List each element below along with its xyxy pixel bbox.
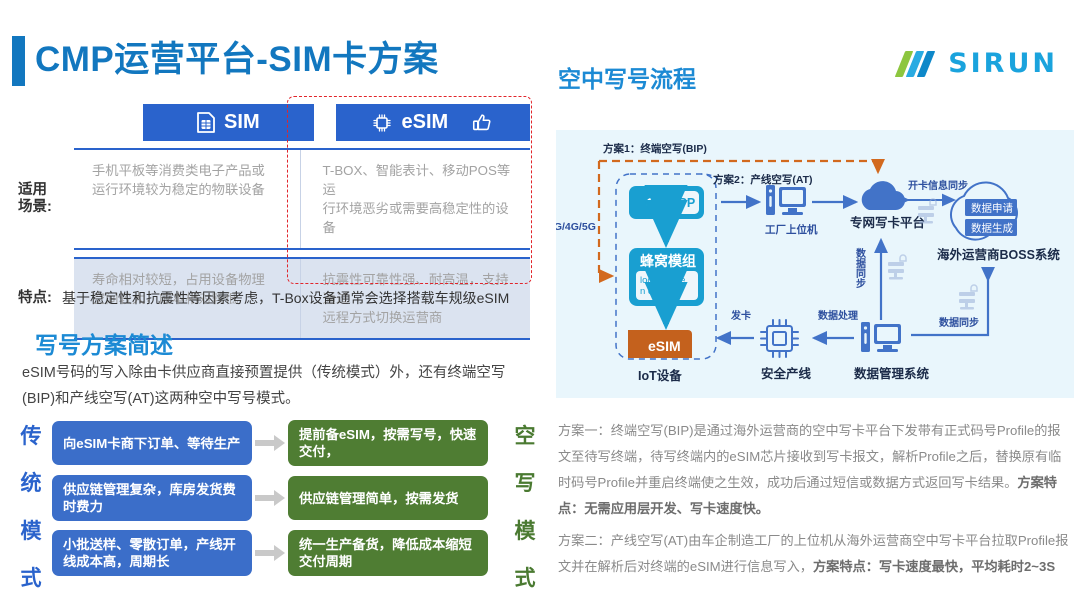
side-char: 写 xyxy=(515,467,536,497)
right-arrow-icon xyxy=(252,490,288,506)
section2-title: 写号方案简述 xyxy=(35,326,173,360)
para2-bold: 方案特点：写卡速度最快，平均耗时2~3S xyxy=(813,559,1055,574)
right-section-title: 空中写号流程 xyxy=(558,60,696,94)
desktop-computer-icon xyxy=(861,322,901,352)
compare-cell-sim-scenario: 手机平板等消费类电子产品或 运行环境较为稳定的物联设备 xyxy=(74,150,300,248)
title-accent-bar xyxy=(12,36,25,86)
side-char: 式 xyxy=(21,562,42,592)
boss-item-1-label: 数据申请 xyxy=(971,202,1013,215)
compare-note: 基于稳定性和抗震性等因素考虑，T-Box设备通常会选择搭载车规级eSIM xyxy=(62,288,509,308)
issue-card-label: 发卡 xyxy=(730,309,751,322)
side-char: 式 xyxy=(515,562,536,592)
data-process-label: 数据处理 xyxy=(818,309,858,322)
open-card-sync-label: 开卡信息同步 xyxy=(908,179,968,192)
flow-side-label-ota: 空 写 模 式 xyxy=(512,420,538,592)
compare-header-row: SIM eSIM xyxy=(143,104,530,141)
paragraph-scheme-two: 方案二：产线空写(AT)由车企制造工厂的上位机从海外运营商空中写卡平台拉取Pro… xyxy=(558,528,1070,580)
compare-header-sim: SIM xyxy=(143,104,314,141)
logo-wordmark: SIRUN xyxy=(948,48,1058,79)
compare-header-sim-label: SIM xyxy=(224,111,260,134)
flow-box-after: 供应链管理简单，按需发货 xyxy=(288,476,488,520)
private-platform-label: 专网写卡平台 xyxy=(850,215,925,230)
compare-header-esim: eSIM xyxy=(336,104,530,141)
cellular-module-label: 蜂窝模组 xyxy=(640,253,696,269)
logical-channel-line2: n channel xyxy=(640,286,681,297)
page-title: CMP运营平台-SIM卡方案 xyxy=(35,35,439,85)
flow-comparison: 传 统 模 式 空 写 模 式 向eSIM卡商下订单、等待生产 提前备eSIM，… xyxy=(18,420,538,585)
scheme2-label: 方案2：产线空写(AT) xyxy=(713,173,813,186)
paragraph-scheme-one: 方案一：终端空写(BIP)是通过海外运营商的空中写卡平台下发带有正式码号Prof… xyxy=(558,418,1070,522)
data-sync-label-1: 数据同步 xyxy=(854,247,866,289)
para1-plain: 方案一：终端空写(BIP)是通过海外运营商的空中写卡平台下发带有正式码号Prof… xyxy=(558,423,1061,490)
flow-box-after: 提前备eSIM，按需写号，快速交付， xyxy=(288,420,488,466)
flow-row: 向eSIM卡商下订单、等待生产 提前备eSIM，按需写号，快速交付， xyxy=(52,420,504,466)
secure-line-label: 安全产线 xyxy=(761,366,812,381)
esim-label: eSIM xyxy=(648,338,681,354)
compare-cell-esim-scenario: T-BOX、智能表计、移动POS等运 行环境恶劣或需要高稳定性的设备 xyxy=(300,150,531,248)
cloud-icon xyxy=(862,181,905,210)
data-sync-label-2: 数据同步 xyxy=(939,316,979,329)
sirun-logo: SIRUN xyxy=(900,48,1058,79)
ota-flow-diagram: CPU APP 蜂窝模组 logical/ope n channel eSIM … xyxy=(556,130,1074,398)
flow-row: 供应链管理复杂，库房发货费时费力 供应链管理简单，按需发货 xyxy=(52,475,504,521)
flow-box-before: 供应链管理复杂，库房发货费时费力 xyxy=(52,475,252,521)
label-line-2: 场景: xyxy=(18,199,52,215)
right-arrow-icon xyxy=(252,435,288,451)
side-char: 模 xyxy=(515,515,536,545)
compare-header-esim-label: eSIM xyxy=(401,111,448,134)
flow-box-before: 小批送样、零散订单，产线开线成本高，周期长 xyxy=(52,530,252,576)
boss-item-2-label: 数据生成 xyxy=(971,222,1013,235)
factory-host-label: 工厂上位机 xyxy=(765,223,818,236)
data-mgmt-label: 数据管理系统 xyxy=(853,366,930,381)
chip-icon xyxy=(372,113,392,133)
section2-description: eSIM号码的写入除由卡供应商直接预置提供（传统模式）外，还有终端空写(BIP)… xyxy=(22,360,532,412)
server-lock-icon xyxy=(888,255,906,280)
compare-row-scenario-label: 适用 场景: xyxy=(18,148,74,250)
flow-row: 小批送样、零散订单，产线开线成本高，周期长 统一生产备货，降低成本缩短交付周期 xyxy=(52,530,504,576)
compare-row-scenario: 适用 场景: 手机平板等消费类电子产品或 运行环境较为稳定的物联设备 T-BOX… xyxy=(18,148,530,250)
network-label: 3G/4G/5G xyxy=(556,221,596,233)
desktop-computer-icon xyxy=(766,185,806,215)
flow-box-after: 统一生产备货，降低成本缩短交付周期 xyxy=(288,530,488,576)
logical-channel-line1: logical/ope xyxy=(640,275,685,286)
app-label: APP xyxy=(670,196,696,210)
label-line-1: 适用 xyxy=(18,182,47,198)
chip-icon xyxy=(761,320,798,357)
sim-card-icon xyxy=(197,112,215,133)
side-char: 统 xyxy=(21,467,42,497)
flow-box-before: 向eSIM卡商下订单、等待生产 xyxy=(52,421,252,465)
sirun-slashes-icon xyxy=(900,51,940,77)
server-lock-icon xyxy=(959,285,977,310)
flow-side-label-traditional: 传 统 模 式 xyxy=(18,420,44,592)
right-arrow-icon xyxy=(252,545,288,561)
side-char: 传 xyxy=(21,420,42,450)
iot-device-label: IoT设备 xyxy=(638,368,682,383)
side-char: 空 xyxy=(515,420,536,450)
slide-root: CMP运营平台-SIM卡方案 SIRUN SIM xyxy=(0,0,1080,608)
thumbs-up-icon xyxy=(471,112,493,134)
scheme1-label: 方案1：终端空写(BIP) xyxy=(603,142,707,155)
side-char: 模 xyxy=(21,515,42,545)
boss-system-label: 海外运营商BOSS系统 xyxy=(937,247,1060,262)
